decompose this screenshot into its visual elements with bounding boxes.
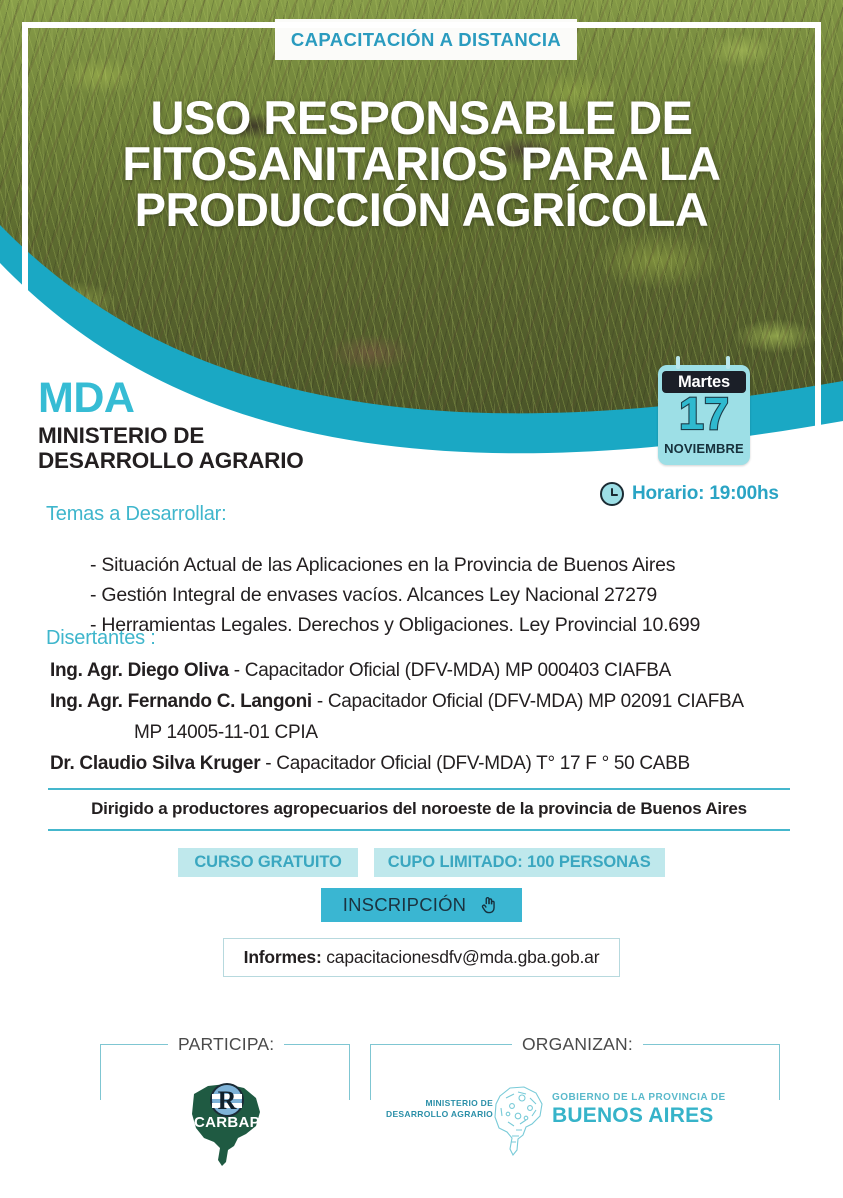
speaker-name: Dr. Claudio Silva Kruger [50,753,260,774]
speaker-row: Ing. Agr. Fernando C. Langoni - Capacita… [50,686,744,717]
poster-footer: PARTICIPA: ORGANIZAN: R CARBAP MINISTERI… [0,1020,843,1150]
speakers-heading: Disertantes : [46,627,156,650]
speaker-row-continuation: MP 14005-11-01 CPIA [50,717,744,748]
speakers-list: Ing. Agr. Diego Oliva - Capacitador Ofic… [50,655,744,779]
contact-row: Informes: capacitacionesdfv@mda.gba.gob.… [0,938,843,977]
participa-label: PARTICIPA: [168,1034,284,1055]
calendar-ring-left [676,356,680,369]
calendar-ring-right [726,356,730,369]
ministry-logo-block: MDA MINISTERIO DE DESARROLLO AGRARIO [38,376,304,473]
svg-text:R: R [218,1086,237,1115]
target-audience-label: Dirigido a productores agropecuarios del… [91,799,747,818]
carbap-name: CARBAP [182,1114,272,1131]
registration-label: INSCRIPCIÓN [343,894,467,916]
speaker-row: Ing. Agr. Diego Oliva - Capacitador Ofic… [50,655,744,686]
speaker-name: Ing. Agr. Diego Oliva [50,660,229,681]
registration-row: INSCRIPCIÓN [0,888,843,922]
badge-row: CURSO GRATUITO CUPO LIMITADO: 100 PERSON… [0,848,843,877]
topic-item: - Herramientas Legales. Derechos y Oblig… [90,610,700,640]
poster-title: USO RESPONSABLE DE FITOSANITARIOS PARA L… [0,95,843,233]
badge-free-course: CURSO GRATUITO [178,848,357,877]
calendar-month: NOVIEMBRE [658,441,750,456]
ministry-footer-line-2: DESARROLLO AGRARIO [386,1109,493,1120]
speaker-name: Ing. Agr. Fernando C. Langoni [50,691,312,712]
ministry-name-line-2: DESARROLLO AGRARIO [38,448,304,473]
province-logo-line-1: GOBIERNO DE LA PROVINCIA DE [552,1092,726,1104]
event-time: Horario: 19:00hs [600,482,779,506]
calendar-day-number: 17 [658,391,750,437]
clock-icon [600,482,624,506]
province-government-logo: GOBIERNO DE LA PROVINCIA DE BUENOS AIRES [552,1092,726,1128]
topic-item: - Situación Actual de las Aplicaciones e… [90,550,700,580]
speaker-row: Dr. Claudio Silva Kruger - Capacitador O… [50,748,744,779]
topics-heading: Temas a Desarrollar: [46,503,227,526]
poster-title-line-1: USO RESPONSABLE DE [0,95,843,141]
registration-button[interactable]: INSCRIPCIÓN [321,888,523,922]
organizan-label: ORGANIZAN: [512,1034,643,1055]
speaker-detail: - Capacitador Oficial (DFV-MDA) T° 17 F … [260,753,690,774]
ministry-name-line-1: MINISTERIO DE [38,423,304,448]
contact-email[interactable]: capacitacionesdfv@mda.gba.gob.ar [322,947,600,967]
contact-label: Informes: [244,947,322,967]
topic-item: - Gestión Integral de envases vacíos. Al… [90,580,700,610]
ministry-footer-line-1: MINISTERIO DE [386,1098,493,1109]
contact-box[interactable]: Informes: capacitacionesdfv@mda.gba.gob.… [223,938,621,977]
poster-title-line-2: FITOSANITARIOS PARA LA [0,141,843,187]
carbap-logo: R CARBAP [182,1072,272,1170]
pointing-hand-icon [478,894,500,916]
ministry-acronym: MDA [38,376,304,420]
poster-title-line-3: PRODUCCIÓN AGRÍCOLA [0,187,843,233]
speaker-detail: - Capacitador Oficial (DFV-MDA) MP 00040… [229,660,671,681]
event-time-label: Horario: 19:00hs [632,483,779,505]
buenos-aires-map-icon [492,1082,552,1160]
course-modality-banner: CAPACITACIÓN A DISTANCIA [275,19,577,60]
event-date-calendar: Martes 17 NOVIEMBRE [658,365,750,465]
speaker-detail: - Capacitador Oficial (DFV-MDA) MP 02091… [312,691,744,712]
course-modality-label: CAPACITACIÓN A DISTANCIA [291,29,561,51]
ministry-footer-logo: MINISTERIO DE DESARROLLO AGRARIO [386,1098,493,1120]
province-logo-line-2: BUENOS AIRES [552,1104,726,1128]
target-audience: Dirigido a productores agropecuarios del… [48,788,790,831]
badge-limited-capacity: CUPO LIMITADO: 100 PERSONAS [374,848,665,877]
speaker-detail: MP 14005-11-01 CPIA [134,722,318,743]
